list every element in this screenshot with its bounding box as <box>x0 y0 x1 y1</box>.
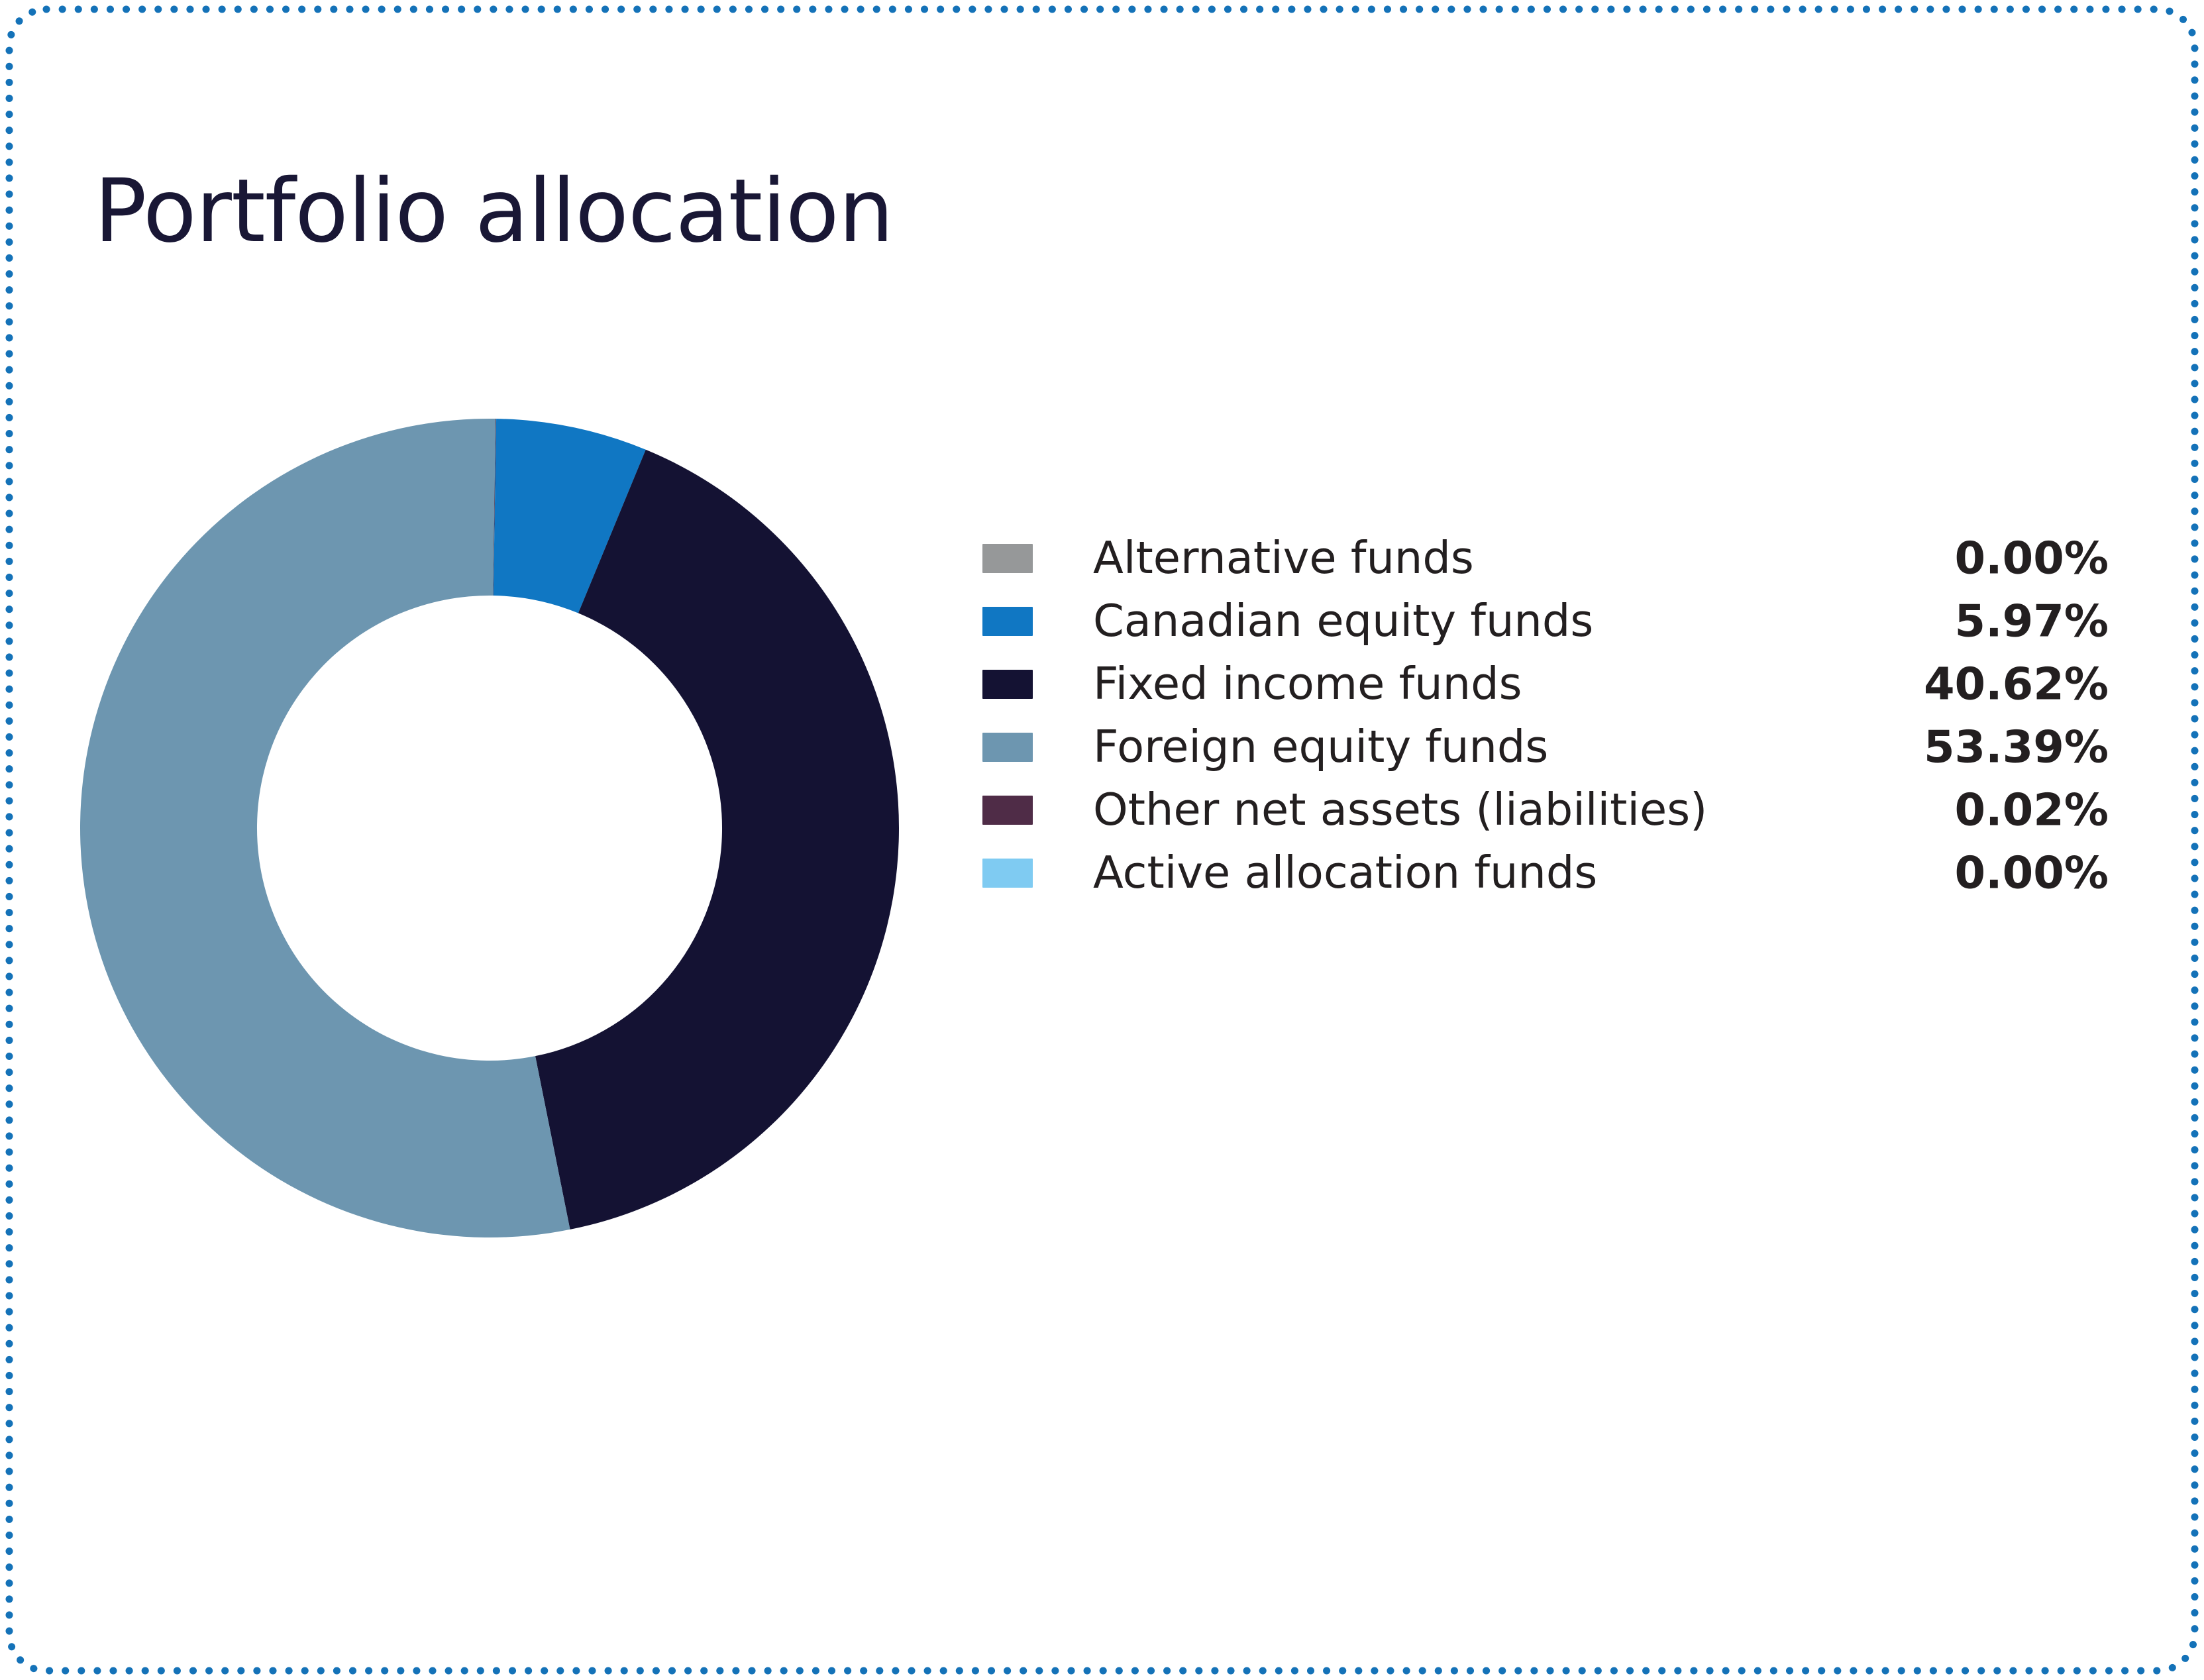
legend-item-other-net-assets[interactable]: Other net assets (liabilities) 0.02% <box>982 778 2109 841</box>
legend-item-label: Fixed income funds <box>1093 662 1522 706</box>
donut-chart <box>80 419 899 1237</box>
legend-item-alternative-funds[interactable]: Alternative funds 0.00% <box>982 527 2109 590</box>
legend-swatch-icon <box>982 859 1033 888</box>
legend-item-value: 0.00% <box>1955 536 2109 580</box>
page-title: Portfolio allocation <box>94 168 893 255</box>
legend-item-value: 0.00% <box>1955 851 2109 895</box>
legend-item-label: Foreign equity funds <box>1093 725 1548 769</box>
donut-slices <box>80 419 899 1237</box>
legend-item-value: 40.62% <box>1924 662 2109 706</box>
legend-item-label: Other net assets (liabilities) <box>1093 788 1707 832</box>
legend-item-label: Alternative funds <box>1093 536 1474 580</box>
legend-swatch-icon <box>982 733 1033 762</box>
legend-swatch-icon <box>982 796 1033 825</box>
legend-swatch-icon <box>982 670 1033 699</box>
legend-swatch-icon <box>982 607 1033 636</box>
legend-item-active-allocation-funds[interactable]: Active allocation funds 0.00% <box>982 841 2109 904</box>
legend-item-foreign-equity-funds[interactable]: Foreign equity funds 53.39% <box>982 715 2109 778</box>
legend-item-value: 5.97% <box>1955 599 2109 643</box>
chart-legend: Alternative funds 0.00% Canadian equity … <box>982 527 2109 904</box>
legend-swatch-icon <box>982 544 1033 573</box>
legend-item-label: Canadian equity funds <box>1093 599 1593 643</box>
legend-item-label: Active allocation funds <box>1093 851 1597 895</box>
legend-item-fixed-income-funds[interactable]: Fixed income funds 40.62% <box>982 653 2109 715</box>
legend-item-canadian-equity-funds[interactable]: Canadian equity funds 5.97% <box>982 590 2109 653</box>
legend-item-value: 0.02% <box>1955 788 2109 832</box>
legend-item-value: 53.39% <box>1924 725 2109 769</box>
